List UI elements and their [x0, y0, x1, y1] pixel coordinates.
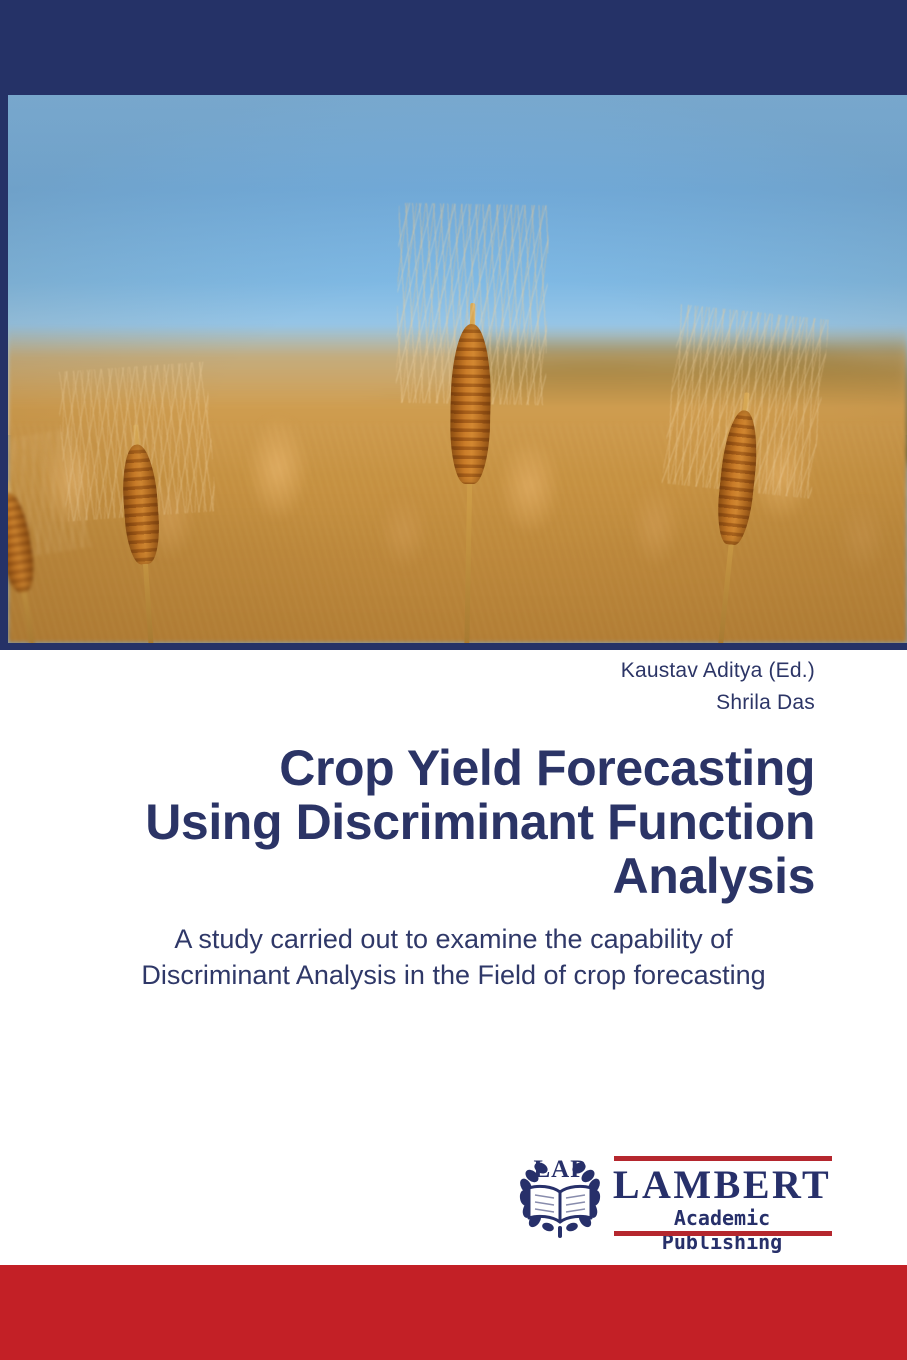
author-list: Kaustav Aditya (Ed.) Shrila Das — [0, 655, 907, 719]
logo-rule-top — [614, 1156, 832, 1161]
lap-emblem-icon: LAP — [514, 1152, 606, 1240]
title-line-2: Using Discriminant Function — [60, 795, 815, 849]
subtitle-line-1: A study carried out to examine the capab… — [80, 921, 827, 957]
book-title: Crop Yield Forecasting Using Discriminan… — [0, 741, 907, 903]
wheat-head — [450, 324, 493, 485]
svg-text:LAP: LAP — [534, 1156, 587, 1183]
publisher-logo: LAP LAMBERT Academic Publishing — [514, 1150, 834, 1246]
cover-photo-frame — [0, 90, 907, 650]
bottom-red-band — [0, 1265, 907, 1360]
title-line-1: Crop Yield Forecasting — [60, 741, 815, 795]
book-subtitle: A study carried out to examine the capab… — [0, 921, 907, 993]
logo-rule-bottom — [614, 1231, 832, 1236]
publisher-tagline: Academic Publishing — [610, 1206, 834, 1254]
author-name-1: Kaustav Aditya (Ed.) — [0, 655, 815, 687]
top-navy-band — [0, 0, 907, 95]
publisher-wordmark: LAMBERT Academic Publishing — [610, 1150, 834, 1242]
cover-text-area: Kaustav Aditya (Ed.) Shrila Das Crop Yie… — [0, 655, 907, 993]
title-line-3: Analysis — [60, 849, 815, 903]
author-name-2: Shrila Das — [0, 687, 815, 719]
book-cover: Kaustav Aditya (Ed.) Shrila Das Crop Yie… — [0, 0, 907, 1360]
publisher-name: LAMBERT — [610, 1164, 834, 1206]
subtitle-line-2: Discriminant Analysis in the Field of cr… — [80, 957, 827, 993]
cover-photo — [8, 95, 907, 643]
